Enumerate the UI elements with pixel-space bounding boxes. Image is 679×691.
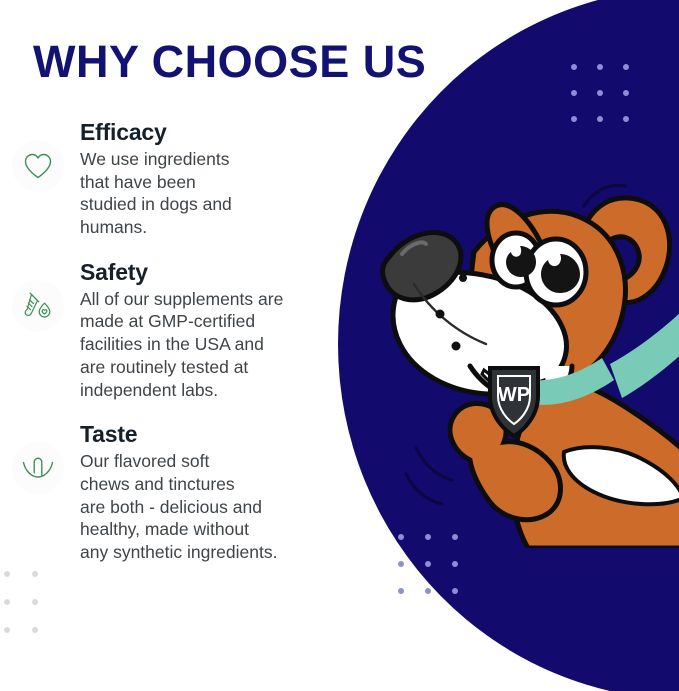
dot-grid-bottom-left <box>4 571 60 655</box>
feature-body: Our flavored soft chews and tinctures ar… <box>80 450 339 564</box>
feature-text-efficacy: Efficacy We use ingredients that have be… <box>64 118 345 239</box>
dot-grid-top-right <box>571 64 649 142</box>
feature-item-safety: Safety All of our supplements are made a… <box>0 258 345 402</box>
cartoon-dog-illustration: WP <box>378 168 679 548</box>
dot <box>452 588 458 594</box>
feature-title: Taste <box>80 420 339 449</box>
dot <box>398 561 404 567</box>
freckle <box>436 310 445 319</box>
heart-icon <box>12 140 64 192</box>
feature-text-safety: Safety All of our supplements are made a… <box>64 258 345 402</box>
dot <box>4 599 10 605</box>
dot <box>32 599 38 605</box>
feature-list: Efficacy We use ingredients that have be… <box>0 118 345 583</box>
dot <box>623 64 629 70</box>
dot <box>571 90 577 96</box>
motion-lines-bottom <box>406 448 452 504</box>
page-title: WHY CHOOSE US <box>33 39 426 84</box>
dot <box>452 561 458 567</box>
dot <box>597 116 603 122</box>
feature-title: Efficacy <box>80 118 339 147</box>
poster-canvas: WHY CHOOSE US Efficacy We use ingredient… <box>0 0 679 691</box>
dot <box>623 90 629 96</box>
tongue-icon <box>12 442 64 494</box>
dot <box>398 588 404 594</box>
feature-text-taste: Taste Our flavored soft chews and tinctu… <box>64 420 345 564</box>
feature-body: All of our supplements are made at GMP-c… <box>80 288 339 402</box>
dot <box>571 116 577 122</box>
dot <box>623 116 629 122</box>
freckle <box>452 342 461 351</box>
dot <box>32 627 38 633</box>
test-tube-icon <box>12 280 64 332</box>
freckle <box>459 274 467 282</box>
dog-tag-label: WP <box>498 384 530 406</box>
feature-title: Safety <box>80 258 339 287</box>
feature-item-efficacy: Efficacy We use ingredients that have be… <box>0 118 345 239</box>
dot <box>425 561 431 567</box>
dot <box>425 588 431 594</box>
dot <box>597 90 603 96</box>
feature-item-taste: Taste Our flavored soft chews and tinctu… <box>0 420 345 564</box>
dot <box>571 64 577 70</box>
dot <box>4 627 10 633</box>
feature-body: We use ingredients that have been studie… <box>80 148 339 239</box>
dot <box>597 64 603 70</box>
